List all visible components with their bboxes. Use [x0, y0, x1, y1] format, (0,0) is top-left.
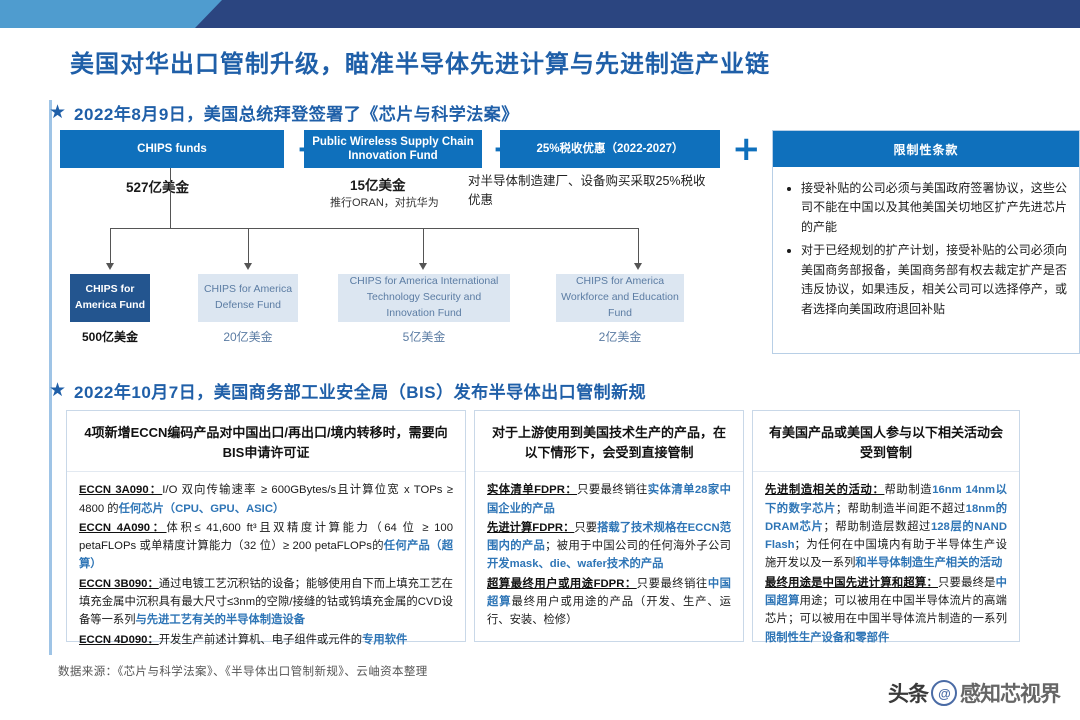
pillar-tax-credit: 25%税收优惠（2022-2027）: [500, 130, 720, 168]
fund-box-itsi-fund[interactable]: CHIPS for America International Technolo…: [338, 274, 510, 322]
tax-credit-note: 对半导体制造建厂、设备购买采取25%税收优惠: [468, 172, 718, 210]
arrow-icon-4: [634, 263, 642, 270]
restrictive-clause-header: 限制性条款: [773, 131, 1079, 167]
eccn-item: ECCN 3B090：通过电镀工艺沉积钴的设备；能够使用自下而上填充工艺在填充金…: [79, 575, 453, 630]
eccn-highlight: 专用软件: [362, 634, 407, 646]
pillar-wireless-fund: Public Wireless Supply Chain Innovation …: [304, 130, 482, 168]
left-vertical-rule: [49, 100, 52, 655]
activity-item: 先进制造相关的活动：帮助制造16nm 14nm以下的数字芯片；帮助制造半间距不超…: [765, 481, 1007, 572]
star-icon: ★: [49, 103, 66, 122]
arrow-icon-2: [244, 263, 252, 270]
top-banner: [0, 0, 1080, 28]
restrictive-clause-body: 接受补贴的公司必须与美国政府签署协议，这些公司不能在中国以及其他美国关切地区扩产…: [773, 167, 1079, 319]
section-header-chips-act: ★ 2022年8月9日，美国总统拜登签署了《芯片与科学法案》: [58, 100, 519, 125]
fdpr-highlight: 开发mask、die、wafer技术的产品: [487, 558, 663, 570]
fdpr-text: ；被用于中国公司的任何海外子公司: [545, 540, 731, 552]
page-title: 美国对华出口管制升级，瞄准半导体先进计算与先进制造产业链: [70, 44, 1030, 79]
pillar-chips-funds: CHIPS funds: [60, 130, 284, 168]
eccn-item: ECCN 4D090：开发生产前述计算机、电子组件或元件的专用软件: [79, 631, 453, 649]
chips-funds-amount: 527亿美金: [126, 176, 189, 196]
card-body: 实体清单FDPR：只要最终销往实体清单28家中国企业的产品 先进计算FDPR：只…: [475, 472, 743, 629]
plus-icon-3: +: [732, 132, 761, 166]
eccn-item: ECCN 4A090：体积≤ 41,600 ft³且双精度计算能力（64 位 ≥…: [79, 519, 453, 574]
restrictive-clause-card: 限制性条款 接受补贴的公司必须与美国政府签署协议，这些公司不能在中国以及其他美国…: [772, 130, 1080, 354]
activity-highlight: 限制性生产设备和零部件: [765, 632, 889, 644]
activity-text: ；帮助制造层数超过: [823, 521, 931, 533]
fdpr-label: 实体清单FDPR：: [487, 484, 577, 496]
connector-drop-3: [423, 228, 424, 264]
connector-trunk: [170, 168, 171, 228]
at-icon: @: [931, 680, 957, 706]
connector-drop-1: [110, 228, 111, 264]
fdpr-text: 只要最终销往: [637, 578, 708, 590]
source-note: 数据来源：《芯片与科学法案》、《半导体出口管制新规》、云岫资本整理: [58, 663, 428, 679]
eccn-item: ECCN 3A090：I/O 双向传输速率 ≥ 600GBytes/s且计算位宽…: [79, 481, 453, 518]
card-body: ECCN 3A090：I/O 双向传输速率 ≥ 600GBytes/s且计算位宽…: [67, 472, 465, 649]
fdpr-text: 只要: [574, 522, 597, 534]
watermark: 头条 @ 感知芯视界: [888, 678, 1060, 708]
fund-amount-defense-fund: 20亿美金: [198, 328, 298, 345]
activity-item: 最终用途是中国先进计算和超算：只要最终是中国超算用途；可以被用在中国半导体流片的…: [765, 574, 1007, 647]
fdpr-label: 先进计算FDPR：: [487, 522, 574, 534]
connector-drop-4: [638, 228, 639, 264]
fund-box-america-fund[interactable]: CHIPS for America Fund: [70, 274, 150, 322]
section-title: 2022年8月9日，美国总统拜登签署了《芯片与科学法案》: [74, 100, 519, 125]
card-us-person-activities: 有美国产品或美国人参与以下相关活动会受到管制 先进制造相关的活动：帮助制造16n…: [752, 410, 1020, 642]
fdpr-label: 超算最终用户或用途FDPR：: [487, 578, 637, 590]
watermark-prefix: 头条: [888, 678, 928, 708]
arrow-icon-3: [419, 263, 427, 270]
fund-amount-itsi-fund: 5亿美金: [338, 328, 510, 345]
eccn-code: ECCN 4A090：: [79, 522, 167, 534]
restrictive-bullet: 对于已经规划的扩产计划，接受补贴的公司必须向美国商务部报备，美国商务部有权去裁定…: [801, 241, 1067, 319]
card-body: 先进制造相关的活动：帮助制造16nm 14nm以下的数字芯片；帮助制造半间距不超…: [753, 472, 1019, 647]
arrow-icon-1: [106, 263, 114, 270]
eccn-highlight: 与先进工艺有关的半导体制造设备: [136, 614, 305, 626]
card-fdpr-direct-control: 对于上游使用到美国技术生产的产品，在以下情形下，会受到直接管制 实体清单FDPR…: [474, 410, 744, 642]
fund-box-defense-fund[interactable]: CHIPS for America Defense Fund: [198, 274, 298, 322]
wireless-fund-note: 推行ORAN，对抗华为: [330, 194, 439, 210]
section-title: 2022年10月7日，美国商务部工业安全局（BIS）发布半导体出口管制新规: [74, 378, 646, 403]
fdpr-item: 实体清单FDPR：只要最终销往实体清单28家中国企业的产品: [487, 481, 731, 518]
activity-text: 只要最终是: [938, 577, 996, 589]
fund-box-workforce-fund[interactable]: CHIPS for America Workforce and Educatio…: [556, 274, 684, 322]
connector-bus: [110, 228, 638, 229]
fdpr-text: 只要最终销往: [577, 484, 648, 496]
card-eccn-licensing: 4项新增ECCN编码产品对中国出口/再出口/境内转移时，需要向BIS申请许可证 …: [66, 410, 466, 642]
watermark-name: 感知芯视界: [960, 678, 1060, 708]
activity-text: 帮助制造: [884, 484, 932, 496]
activity-label: 最终用途是中国先进计算和超算：: [765, 577, 938, 589]
fdpr-item: 先进计算FDPR：只要搭载了技术规格在ECCN范围内的产品；被用于中国公司的任何…: [487, 519, 731, 574]
section-header-bis-rules: ★ 2022年10月7日，美国商务部工业安全局（BIS）发布半导体出口管制新规: [58, 378, 646, 403]
activity-highlight: 和半导体制造生产相关的活动: [855, 557, 1002, 569]
fund-amount-america-fund: 500亿美金: [70, 328, 150, 345]
restrictive-bullet: 接受补贴的公司必须与美国政府签署协议，这些公司不能在中国以及其他美国关切地区扩产…: [801, 179, 1067, 237]
card-title: 4项新增ECCN编码产品对中国出口/再出口/境内转移时，需要向BIS申请许可证: [67, 411, 465, 472]
card-title: 对于上游使用到美国技术生产的产品，在以下情形下，会受到直接管制: [475, 411, 743, 472]
fund-amount-workforce-fund: 2亿美金: [556, 328, 684, 345]
eccn-highlight: 任何芯片（CPU、GPU、ASIC）: [119, 503, 285, 515]
eccn-code: ECCN 3B090：: [79, 578, 159, 590]
eccn-code: ECCN 4D090：: [79, 634, 159, 646]
eccn-text: 开发生产前述计算机、电子组件或元件的: [159, 634, 362, 646]
chips-act-panel: CHIPS funds + Public Wireless Supply Cha…: [60, 130, 1020, 362]
eccn-code: ECCN 3A090：: [79, 484, 162, 496]
card-title: 有美国产品或美国人参与以下相关活动会受到管制: [753, 411, 1019, 472]
fdpr-item: 超算最终用户或用途FDPR：只要最终销往中国超算最终用户或用途的产品（开发、生产…: [487, 575, 731, 630]
activity-label: 先进制造相关的活动：: [765, 484, 884, 496]
wireless-fund-amount: 15亿美金: [350, 174, 406, 194]
activity-text: 用途；可以被用在中国半导体流片的高端芯片；可以被用在中国半导体流片制造的一系列: [765, 595, 1007, 625]
fdpr-text: 最终用户或用途的产品（开发、生产、运行、安装、检修）: [487, 596, 731, 626]
star-icon: ★: [49, 381, 66, 400]
activity-text: ；帮助制造半间距不超过: [836, 503, 966, 515]
connector-drop-2: [248, 228, 249, 264]
